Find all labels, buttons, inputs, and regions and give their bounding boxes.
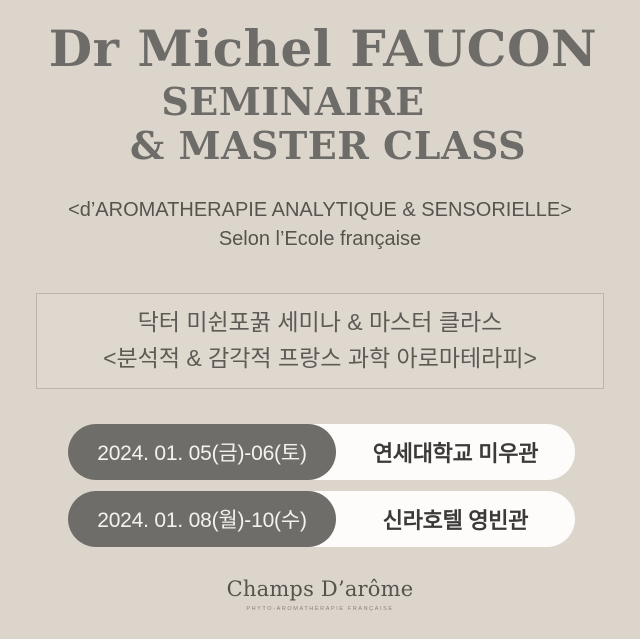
subtitle-line-2: Selon l’Ecole française [0, 225, 640, 254]
headline-line-2: SEMINAIRE [0, 83, 640, 121]
schedule-venue-text: 신라호텔 영빈관 [383, 503, 528, 535]
schedule-list: 2024. 01. 05(금)-06(토) 연세대학교 미우관 2024. 01… [68, 424, 575, 558]
subtitle-block: <d’AROMATHERAPIE ANALYTIQUE & SENSORIELL… [0, 196, 640, 254]
headline-line-1: Dr Michel FAUCON [0, 24, 640, 74]
brand-name: Champs D’arôme [0, 578, 640, 601]
headline-line-3: & MASTER CLASS [0, 127, 640, 165]
headline-block: Dr Michel FAUCON SEMINAIRE & MASTER CLAS… [0, 24, 640, 165]
schedule-venue-pill: 신라호텔 영빈관 [336, 491, 575, 547]
subtitle-line-1: <d’AROMATHERAPIE ANALYTIQUE & SENSORIELL… [0, 196, 640, 225]
poster-canvas: Dr Michel FAUCON SEMINAIRE & MASTER CLAS… [0, 0, 640, 639]
korean-description-box: 닥터 미쉰포꿁 세미나 & 마스터 클라스 <분석적 & 감각적 프랑스 과학 … [36, 293, 604, 389]
brand-logo: Champs D’arôme PHYTO-AROMATHÉRAPIE FRANÇ… [0, 578, 640, 612]
schedule-venue-pill: 연세대학교 미우관 [336, 424, 575, 480]
korean-line-1: 닥터 미쉰포꿁 세미나 & 마스터 클라스 [138, 305, 503, 341]
schedule-date-pill: 2024. 01. 05(금)-06(토) [68, 424, 336, 480]
schedule-date-text: 2024. 01. 08(월)-10(수) [97, 504, 307, 534]
schedule-date-pill: 2024. 01. 08(월)-10(수) [68, 491, 336, 547]
brand-tagline: PHYTO-AROMATHÉRAPIE FRANÇAISE [0, 606, 640, 612]
schedule-date-text: 2024. 01. 05(금)-06(토) [97, 437, 307, 467]
schedule-row[interactable]: 2024. 01. 05(금)-06(토) 연세대학교 미우관 [68, 424, 575, 480]
korean-line-2: <분석적 & 감각적 프랑스 과학 아로마테라피> [103, 341, 537, 377]
schedule-row[interactable]: 2024. 01. 08(월)-10(수) 신라호텔 영빈관 [68, 491, 575, 547]
schedule-venue-text: 연세대학교 미우관 [373, 436, 538, 468]
